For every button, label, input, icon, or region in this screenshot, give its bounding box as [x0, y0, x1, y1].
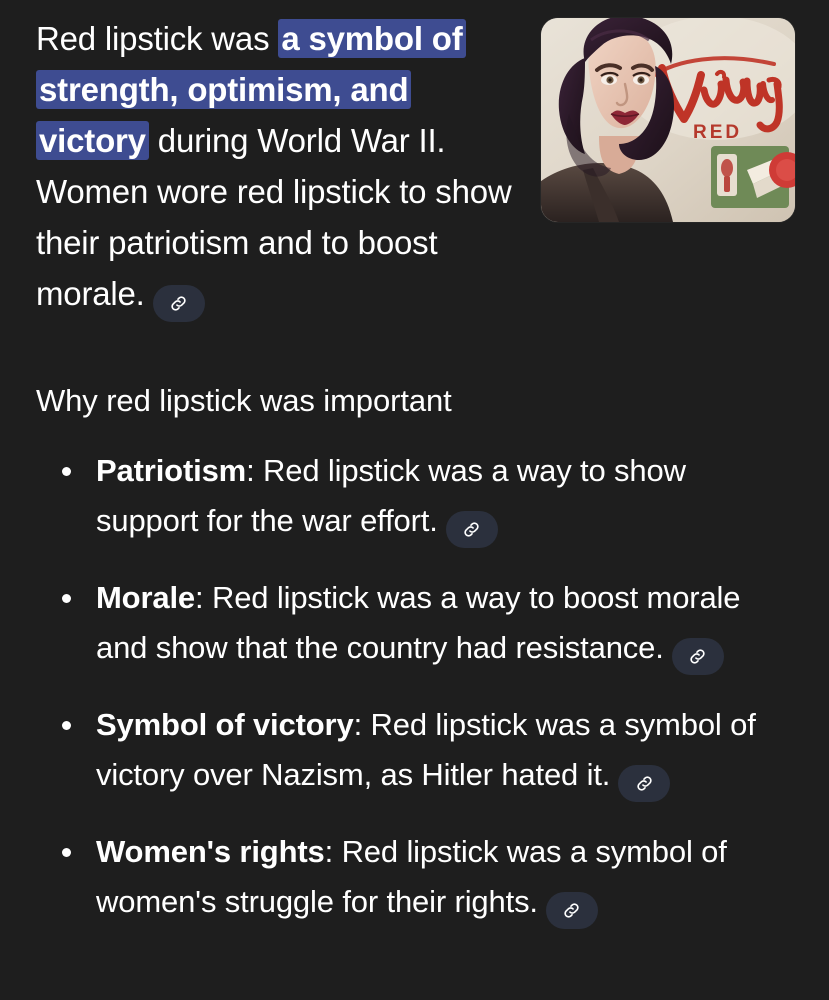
link-icon	[168, 293, 189, 314]
intro-text-before: Red lipstick was	[36, 20, 278, 57]
bullet-separator: :	[246, 453, 263, 488]
section-heading: Why red lipstick was important	[0, 322, 829, 420]
list-item: Symbol of victory: Red lipstick was a sy…	[36, 700, 795, 802]
bullet-separator: :	[325, 834, 342, 869]
bullet-separator: :	[195, 580, 212, 615]
link-icon	[461, 519, 482, 540]
answer-panel: RED	[0, 0, 829, 1000]
bullet-label: Women's rights	[96, 834, 325, 869]
svg-text:RED: RED	[693, 122, 742, 143]
bullet-label: Patriotism	[96, 453, 246, 488]
bullet-separator: :	[354, 707, 371, 742]
bullet-dot	[62, 721, 71, 730]
bullet-dot	[62, 848, 71, 857]
bullet-dot	[62, 467, 71, 476]
link-chip[interactable]	[672, 638, 724, 675]
intro-section: RED	[0, 0, 829, 322]
bullet-dot	[62, 594, 71, 603]
list-item: Patriotism: Red lipstick was a way to sh…	[36, 446, 795, 548]
link-chip[interactable]	[153, 285, 205, 322]
link-chip[interactable]	[446, 511, 498, 548]
link-chip[interactable]	[546, 892, 598, 929]
thumbnail-artwork: RED	[541, 18, 795, 222]
bullet-label: Symbol of victory	[96, 707, 354, 742]
reasons-list: Patriotism: Red lipstick was a way to sh…	[0, 420, 829, 929]
victory-red-thumbnail[interactable]: RED	[541, 18, 795, 222]
link-icon	[561, 900, 582, 921]
list-item: Morale: Red lipstick was a way to boost …	[36, 573, 795, 675]
link-chip[interactable]	[618, 765, 670, 802]
link-icon	[687, 646, 708, 667]
bullet-label: Morale	[96, 580, 195, 615]
link-icon	[634, 773, 655, 794]
list-item: Women's rights: Red lipstick was a symbo…	[36, 827, 795, 929]
